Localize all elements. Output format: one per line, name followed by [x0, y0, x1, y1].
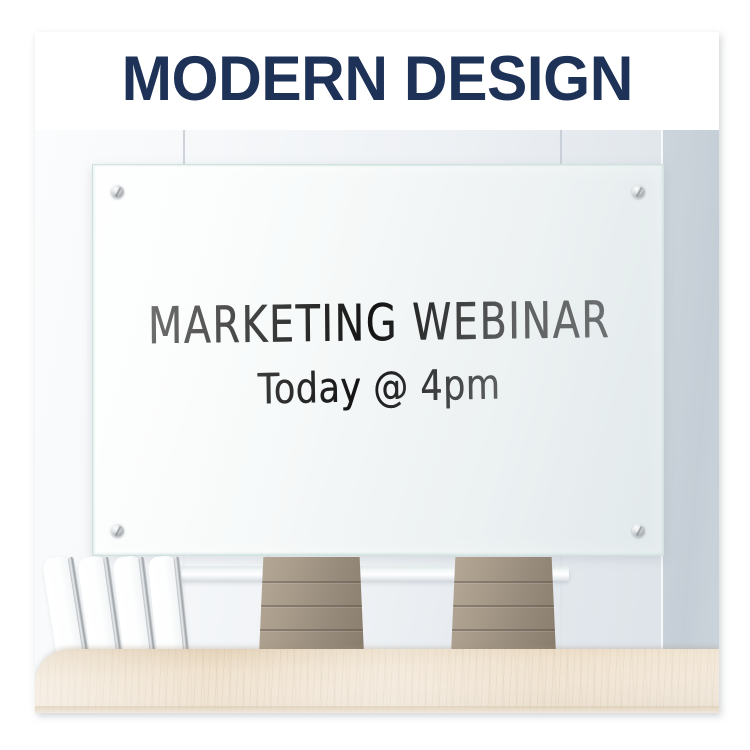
table-front-edge: [35, 706, 719, 713]
whiteboard-text-line-2: Today @ 4pm: [93, 362, 666, 416]
page-title: MODERN DESIGN: [121, 48, 632, 114]
chair-rib: [450, 629, 557, 631]
whiteboard-text-line-1: MARKETING WEBINAR: [101, 294, 656, 352]
glass-reflection: [93, 165, 663, 555]
conference-room-scene: MARKETING WEBINAR Today @ 4pm: [35, 130, 719, 713]
standoff-mount-top-left: [111, 185, 124, 198]
glass-edge-left: [93, 165, 96, 555]
chair-rib: [258, 581, 365, 583]
chair-rib: [450, 605, 557, 607]
header-banner: MODERN DESIGN: [35, 32, 719, 130]
chair-rib: [450, 581, 557, 583]
photo-frame: MODERN DESIGN MARKETING WEBINAR Today @ …: [35, 32, 719, 713]
chair-rib: [258, 629, 365, 631]
glass-edge-top: [93, 165, 663, 167]
glass-edge-right: [660, 165, 663, 555]
product-photo-card: MODERN DESIGN MARKETING WEBINAR Today @ …: [0, 0, 750, 750]
table-surface-sheen: [35, 649, 719, 713]
chair-rib: [258, 605, 365, 607]
furniture-group: [35, 528, 719, 713]
standoff-mount-top-right: [632, 185, 645, 198]
glass-dry-erase-board: MARKETING WEBINAR Today @ 4pm: [92, 164, 664, 556]
whiteboard-writing: MARKETING WEBINAR Today @ 4pm: [93, 303, 665, 406]
conference-table: [35, 649, 719, 713]
